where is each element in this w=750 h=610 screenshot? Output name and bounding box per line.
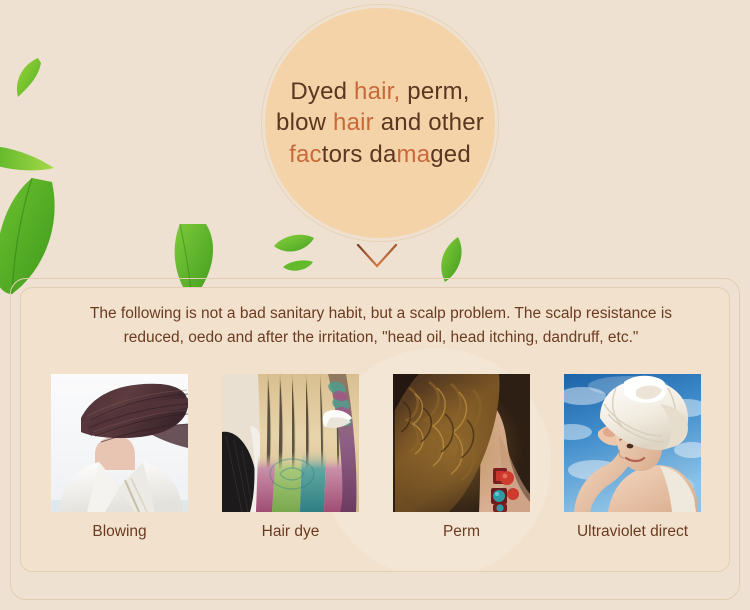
thumbnail-blowing[interactable]: [51, 374, 188, 512]
card-row: Blowing: [51, 374, 701, 554]
headline-segment: hair: [333, 109, 374, 136]
headline-circle: Dyed hair, perm, blow hair and other fac…: [265, 8, 495, 238]
chevron-down-icon: [356, 243, 398, 269]
card-ultraviolet-direct[interactable]: Ultraviolet direct: [564, 374, 701, 554]
headline-segment: ma: [397, 141, 431, 168]
headline-segment: and: [374, 109, 422, 136]
content-panel: The following is not a bad sanitary habi…: [20, 287, 730, 572]
card-perm[interactable]: Perm: [393, 374, 530, 554]
thumbnail-hair-dye[interactable]: [222, 374, 359, 512]
leaf-decoration: [8, 55, 46, 105]
headline-segment: hair,: [354, 78, 400, 105]
thumbnail-ultraviolet-direct[interactable]: [564, 374, 701, 512]
headline-segment: fac: [289, 141, 322, 168]
card-label: Blowing: [51, 524, 188, 540]
intro-paragraph: The following is not a bad sanitary habi…: [81, 302, 681, 349]
card-label: Ultraviolet direct: [564, 524, 701, 540]
headline-text: Dyed hair, perm, blow hair and other fac…: [275, 76, 485, 170]
leaf-decoration: [0, 140, 55, 182]
card-blowing[interactable]: Blowing: [51, 374, 188, 554]
leaf-decoration: [272, 232, 316, 258]
page-root: Dyed hair, perm, blow hair and other fac…: [0, 0, 750, 610]
thumbnail-perm[interactable]: [393, 374, 530, 512]
headline-segment: blow: [276, 109, 333, 136]
card-label: Perm: [393, 524, 530, 540]
card-label: Hair dye: [222, 524, 359, 540]
headline-segment: other: [421, 109, 484, 136]
headline-segment: Dyed: [290, 78, 354, 105]
leaf-decoration: [436, 236, 466, 284]
leaf-decoration: [282, 258, 314, 274]
card-hair-dye[interactable]: Hair dye: [222, 374, 359, 554]
headline-segment: da: [363, 141, 397, 168]
headline-segment: ged: [430, 141, 471, 168]
headline-segment: perm,: [400, 78, 469, 105]
headline-segment: tors: [322, 141, 363, 168]
